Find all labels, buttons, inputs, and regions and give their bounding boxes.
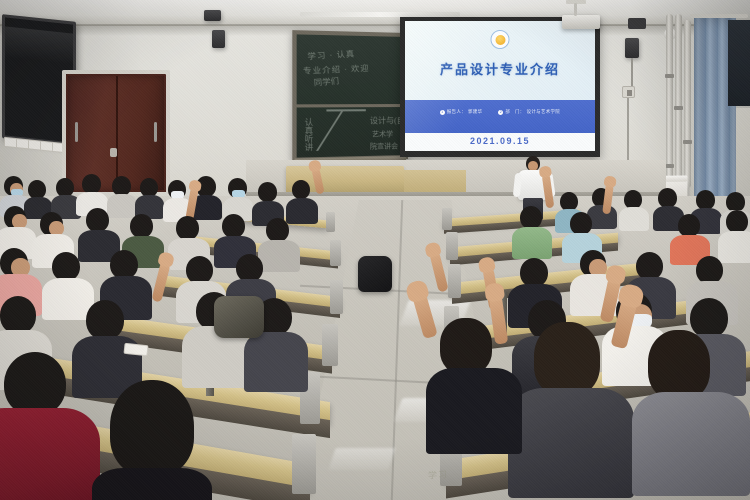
chalkboard: 学习 · 认真 专业介绍 · 欢迎 同学们 认真听讲 设计与(自) 艺术学 院宣… (292, 30, 408, 162)
head (534, 322, 600, 396)
screen-glare (5, 27, 73, 65)
wall-pipe (675, 14, 682, 189)
desk-end-rail (326, 212, 335, 232)
slide-meta-department: 2 部 门： 设计与艺术学院 (498, 109, 560, 115)
slide-meta-row: 1 报告人： 郭建华 2 部 门： 设计与艺术学院 (405, 109, 595, 115)
projector-mount-arm (574, 3, 577, 16)
camera-housing (628, 18, 646, 29)
microphone-cable (627, 98, 629, 166)
desk-end-rail (446, 232, 458, 260)
door-knob[interactable] (110, 148, 117, 157)
head (110, 380, 194, 476)
hand (308, 159, 322, 172)
desk-end-rail (442, 208, 452, 230)
outlet-icon (17, 139, 29, 148)
head (0, 296, 36, 334)
torso (107, 194, 137, 218)
torso (244, 332, 308, 392)
head (186, 256, 213, 284)
slide-meta-value: 郭建华 (468, 109, 482, 115)
door-handle-left[interactable] (75, 122, 78, 142)
outlet-icon (41, 142, 53, 151)
speaker-left-upper (204, 10, 221, 21)
head (86, 208, 109, 232)
speaker-left-lower (212, 30, 225, 48)
bullet-icon: 1 (440, 110, 445, 115)
head (726, 192, 745, 212)
head (176, 216, 199, 240)
desk-end-rail (322, 324, 338, 366)
torso (0, 408, 100, 500)
head (112, 176, 131, 196)
ceiling-projector (562, 15, 600, 29)
emblem-center (495, 35, 505, 45)
head (696, 256, 723, 284)
slide-meta-value: 设计与艺术学院 (527, 109, 561, 115)
smartphone[interactable] (123, 343, 148, 356)
torso (286, 198, 318, 224)
torso (258, 240, 300, 272)
double-door[interactable] (66, 74, 166, 192)
window-pane (728, 20, 750, 106)
desk-end-rail (292, 434, 316, 494)
chalk-line: 同学们 (313, 75, 339, 88)
presentation-slide: 产品设计专业介绍 1 报告人： 郭建华 2 部 门： 设计与艺术学院 2021.… (405, 21, 595, 151)
projection-screen: 产品设计专业介绍 1 报告人： 郭建华 2 部 门： 设计与艺术学院 2021.… (400, 17, 600, 157)
university-emblem-icon (491, 30, 510, 49)
door-handle-right[interactable] (154, 122, 157, 142)
slide-meta-label: 部 门： (505, 109, 524, 115)
head (130, 214, 153, 238)
head (690, 298, 728, 338)
head (52, 252, 80, 281)
head (520, 258, 548, 287)
desk-end-rail (330, 240, 341, 266)
door-seam (116, 76, 118, 190)
desk-graffiti: 学习 (428, 467, 449, 481)
torso (718, 231, 750, 263)
chalk-line: 艺术学 (372, 129, 393, 139)
slide-date: 2021.09.15 (405, 136, 595, 146)
wall-junction-box (622, 86, 635, 98)
head (266, 218, 289, 242)
head (696, 190, 715, 210)
head (678, 214, 700, 237)
head (258, 182, 277, 202)
backpack (214, 296, 264, 338)
backpack (358, 256, 392, 292)
head (4, 352, 66, 416)
head (292, 180, 310, 199)
torso (426, 368, 522, 454)
chalk-line: 学习 · 认真 (307, 48, 356, 62)
head (520, 206, 542, 229)
bullet-icon: 2 (498, 110, 503, 115)
equipment-cable (631, 58, 633, 88)
head (236, 254, 263, 282)
hand (478, 256, 496, 274)
speaker-right (625, 38, 639, 58)
hand (484, 282, 505, 302)
slide-meta-label: 报告人： (447, 109, 466, 115)
slide-meta-presenter: 1 报告人： 郭建华 (440, 109, 483, 115)
chalkboard-divider (297, 104, 404, 107)
slide-color-band (405, 100, 595, 133)
chalk-diagram (326, 109, 365, 148)
desk-end-rail (330, 280, 343, 314)
hand (188, 179, 202, 192)
head (658, 188, 677, 208)
hand (604, 175, 617, 187)
outlet-icon (29, 140, 41, 149)
outlet-icon (5, 138, 17, 147)
torso (92, 468, 212, 500)
head (570, 212, 592, 235)
hand (539, 165, 552, 178)
head (726, 210, 748, 233)
torso (632, 392, 750, 496)
head (222, 214, 245, 238)
torso (508, 388, 634, 498)
head (636, 252, 663, 280)
slide-title: 产品设计专业介绍 (405, 59, 595, 78)
desk-end-rail (448, 264, 461, 298)
chalk-line: 院宣讲会 (370, 141, 398, 152)
head (82, 174, 101, 194)
wall-pipe (684, 20, 691, 188)
chalk-line: 认真听讲 (303, 118, 315, 151)
head (110, 250, 138, 279)
head (86, 300, 124, 340)
floor-light-reflection (328, 448, 395, 470)
torso (512, 227, 552, 259)
torso (619, 207, 649, 231)
head (440, 318, 492, 374)
wall-pipe (666, 14, 673, 189)
front-desk (404, 170, 466, 192)
head (648, 330, 710, 400)
lecture-hall-photo: 学习 · 认真 专业介绍 · 欢迎 同学们 认真听讲 设计与(自) 艺术学 院宣… (0, 0, 750, 500)
